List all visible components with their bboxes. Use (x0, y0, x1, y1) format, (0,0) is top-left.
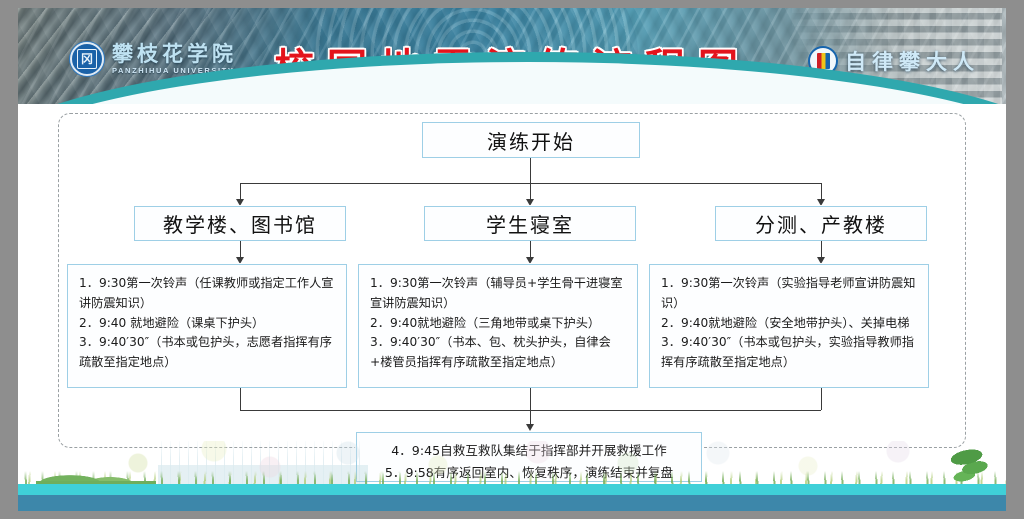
arrow-branch-2 (526, 199, 534, 206)
flow-branch-1-step-2: 2．9:40 就地避险（课桌下护头） (79, 314, 337, 334)
bottom-decoration (18, 441, 1006, 511)
flow-branch-2-step-2: 2．9:40就地避险（三角地带或桌下护头） (370, 314, 628, 334)
flow-node-branch-2-title: 学生寝室 (424, 206, 636, 241)
blue-footer-bar (18, 495, 1006, 511)
arrow-branch-1 (236, 199, 244, 206)
arrow-branch-1-detail (236, 257, 244, 264)
flow-branch-1-step-3: 3．9:40′30″（书本或包护头，志愿者指挥有序疏散至指定地点） (79, 333, 337, 373)
poster-body: 演练开始 教学楼、图书馆 学生寝室 分测、产教楼 (18, 104, 1006, 511)
cyan-footer-bar (18, 484, 1006, 495)
slogan-text: 自律攀大人 (845, 46, 980, 76)
flow-node-start: 演练开始 (422, 122, 640, 158)
university-name-cn: 攀枝花学院 (112, 43, 237, 65)
flow-branch-1-title-label: 教学楼、图书馆 (163, 209, 317, 238)
poster-canvas: 冈 攀枝花学院 PANZHIHUA UNIVERSITY 校园地震演练流程图 自… (18, 8, 1006, 511)
arrow-end (526, 424, 534, 431)
flow-node-start-label: 演练开始 (487, 126, 575, 155)
flow-branch-3-step-1: 1．9:30第一次铃声（实验指导老师宣讲防震知识） (661, 274, 919, 314)
arrow-branch-3 (817, 199, 825, 206)
flow-branch-2-steps: 1．9:30第一次铃声（辅导员+学生骨干进寝室宣讲防震知识） 2．9:40就地避… (359, 265, 637, 380)
flow-branch-2-step-1: 1．9:30第一次铃声（辅导员+学生骨干进寝室宣讲防震知识） (370, 274, 628, 314)
flow-branch-1-step-1: 1．9:30第一次铃声（任课教师或指定工作人宣讲防震知识） (79, 274, 337, 314)
flow-node-branch-1-title: 教学楼、图书馆 (134, 206, 346, 241)
flow-node-branch-3-title: 分测、产教楼 (715, 206, 927, 241)
flow-branch-3-steps: 1．9:30第一次铃声（实验指导老师宣讲防震知识） 2．9:40就地避险（安全地… (650, 265, 928, 380)
flow-branch-1-steps: 1．9:30第一次铃声（任课教师或指定工作人宣讲防震知识） 2．9:40 就地避… (68, 265, 346, 380)
flow-node-branch-2-detail: 1．9:30第一次铃声（辅导员+学生骨干进寝室宣讲防震知识） 2．9:40就地避… (358, 264, 638, 388)
connector-start-down (530, 158, 531, 183)
university-seal-icon: 冈 (70, 42, 104, 76)
connector-merge-up-1 (240, 388, 241, 410)
flow-branch-3-title-label: 分测、产教楼 (755, 209, 887, 238)
connector-merge-up-3 (821, 388, 822, 410)
flow-branch-2-title-label: 学生寝室 (486, 209, 574, 238)
flow-branch-3-step-3: 3．9:40′30″（书本或包护头，实验指导教师指挥有序疏散至指定地点） (661, 333, 919, 373)
flow-branch-3-step-2: 2．9:40就地避险（安全地带护头）、关掉电梯 (661, 314, 919, 334)
connector-merge-down (530, 388, 531, 426)
arrow-branch-2-detail (526, 257, 534, 264)
arrow-branch-3-detail (817, 257, 825, 264)
flow-node-branch-3-detail: 1．9:30第一次铃声（实验指导老师宣讲防震知识） 2．9:40就地避险（安全地… (649, 264, 929, 388)
university-seal-glyph: 冈 (77, 49, 97, 69)
poster-header: 冈 攀枝花学院 PANZHIHUA UNIVERSITY 校园地震演练流程图 自… (18, 8, 1006, 104)
flow-branch-2-step-3: 3．9:40′30″（书本、包、枕头护头，自律会+楼管员指挥有序疏散至指定地点） (370, 333, 628, 373)
flow-node-branch-1-detail: 1．9:30第一次铃声（任课教师或指定工作人宣讲防震知识） 2．9:40 就地避… (67, 264, 347, 388)
